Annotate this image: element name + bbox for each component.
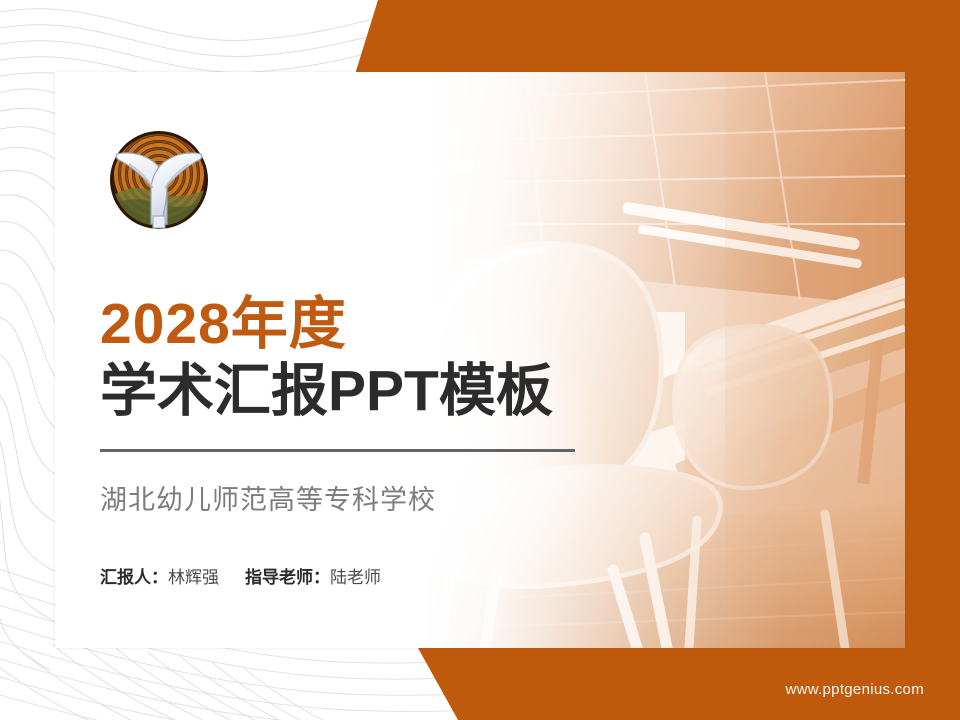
presenter-name: 林辉强 xyxy=(168,568,219,587)
page-title-year: 2028年度 xyxy=(100,294,575,356)
presenter-label: 汇报人： xyxy=(100,568,168,587)
college-logo xyxy=(99,120,219,240)
page-title-main: 学术汇报PPT模板 xyxy=(100,360,575,424)
orange-band-right xyxy=(900,0,960,720)
advisor-label: 指导老师： xyxy=(245,568,330,587)
presenter-info-row: 汇报人：林辉强指导老师：陆老师 xyxy=(100,563,575,588)
advisor-name: 陆老师 xyxy=(330,568,381,587)
title-divider xyxy=(100,449,575,452)
content-card: 2028年度 学术汇报PPT模板 湖北幼儿师范高等专科学校 汇报人：林辉强指导老… xyxy=(55,72,905,648)
title-block: 2028年度 学术汇报PPT模板 湖北幼儿师范高等专科学校 汇报人：林辉强指导老… xyxy=(100,294,575,588)
presentation-slide: 2028年度 学术汇报PPT模板 湖北幼儿师范高等专科学校 汇报人：林辉强指导老… xyxy=(0,0,960,720)
site-watermark: www.pptgenius.com xyxy=(786,681,925,698)
institution-subtitle: 湖北幼儿师范高等专科学校 xyxy=(100,478,575,517)
